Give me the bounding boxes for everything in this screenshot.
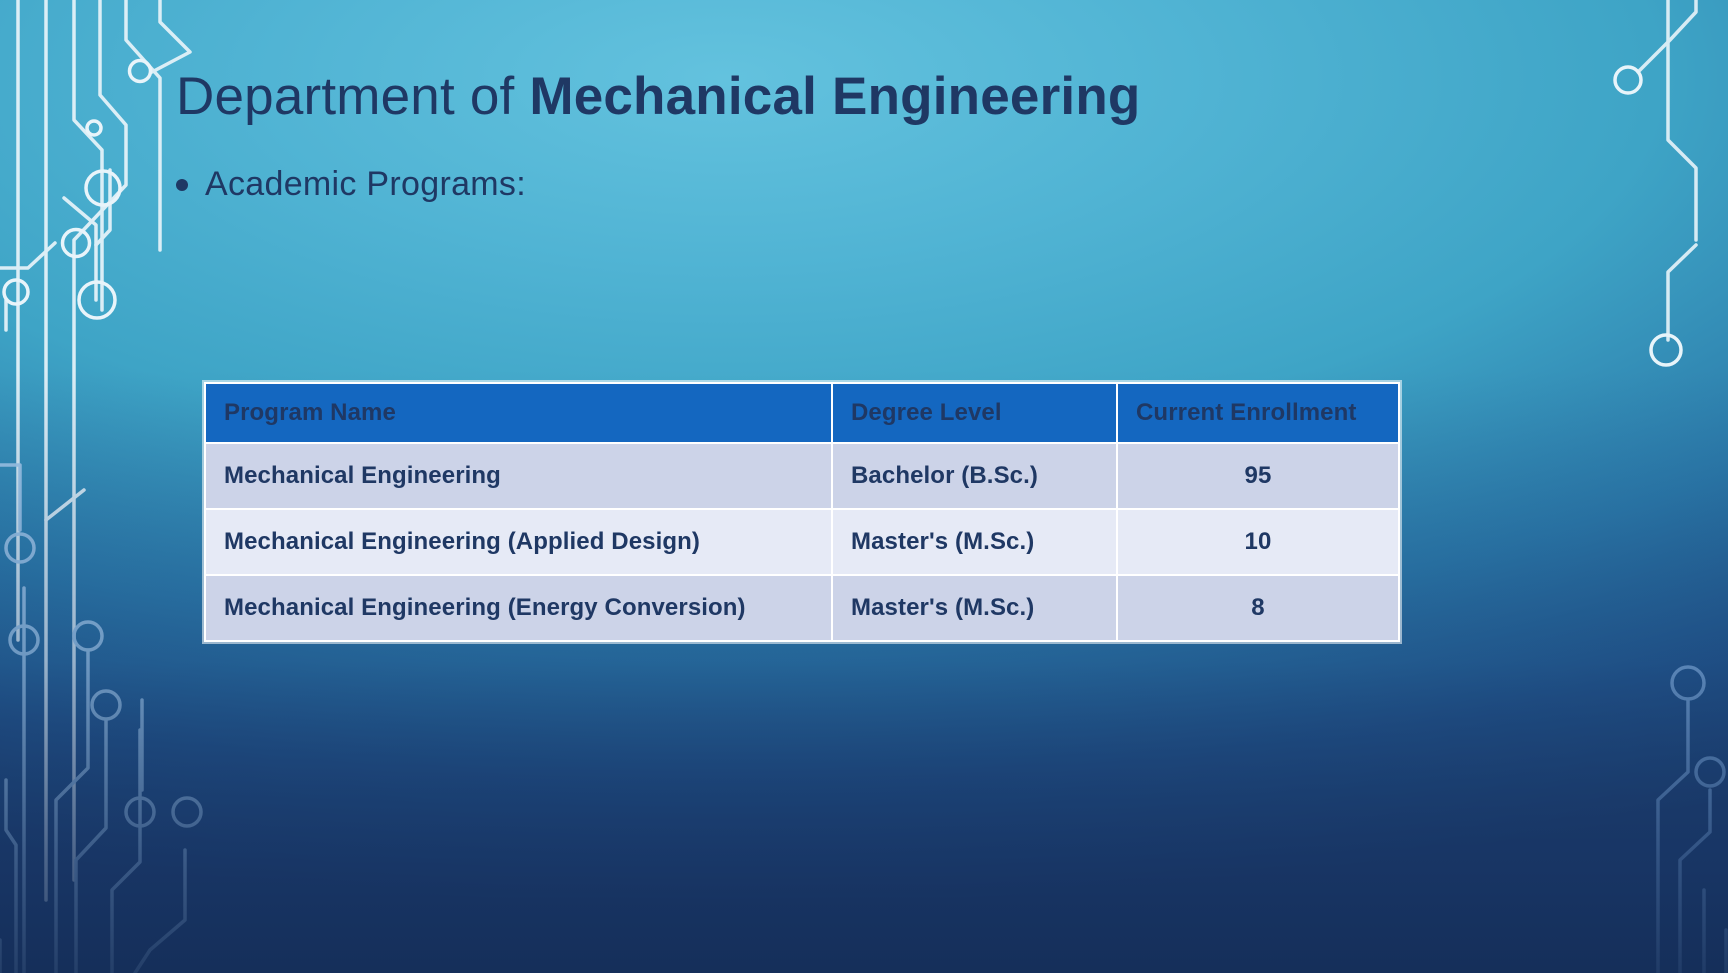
- cell-degree-level: Master's (M.Sc.): [832, 509, 1117, 575]
- table-row: Mechanical Engineering (Energy Conversio…: [205, 575, 1399, 641]
- bullet-list-item: Academic Programs:: [176, 163, 526, 206]
- page-title: Department of Mechanical Engineering: [176, 66, 1476, 129]
- column-header-current-enrollment: Current Enrollment: [1117, 383, 1399, 443]
- cell-degree-level: Bachelor (B.Sc.): [832, 443, 1117, 509]
- cell-degree-level: Master's (M.Sc.): [832, 575, 1117, 641]
- presentation-slide: Department of Mechanical Engineering Aca…: [0, 0, 1728, 973]
- cell-program-name: Mechanical Engineering (Energy Conversio…: [205, 575, 832, 641]
- table-body: Mechanical Engineering Bachelor (B.Sc.) …: [205, 443, 1399, 641]
- cell-program-name: Mechanical Engineering: [205, 443, 832, 509]
- table-header: Program Name Degree Level Current Enroll…: [205, 383, 1399, 443]
- table-header-row: Program Name Degree Level Current Enroll…: [205, 383, 1399, 443]
- cell-current-enrollment: 95: [1117, 443, 1399, 509]
- table-row: Mechanical Engineering Bachelor (B.Sc.) …: [205, 443, 1399, 509]
- bullet-list-item-label: Academic Programs:: [205, 163, 526, 206]
- page-title-light: Department of: [176, 67, 529, 126]
- column-header-program-name: Program Name: [205, 383, 832, 443]
- column-header-degree-level: Degree Level: [832, 383, 1117, 443]
- page-title-strong: Mechanical Engineering: [529, 67, 1140, 126]
- cell-current-enrollment: 10: [1117, 509, 1399, 575]
- bullet-dot-icon: [176, 179, 188, 191]
- table-row: Mechanical Engineering (Applied Design) …: [205, 509, 1399, 575]
- cell-current-enrollment: 8: [1117, 575, 1399, 641]
- cell-program-name: Mechanical Engineering (Applied Design): [205, 509, 832, 575]
- academic-programs-table: Program Name Degree Level Current Enroll…: [204, 382, 1400, 642]
